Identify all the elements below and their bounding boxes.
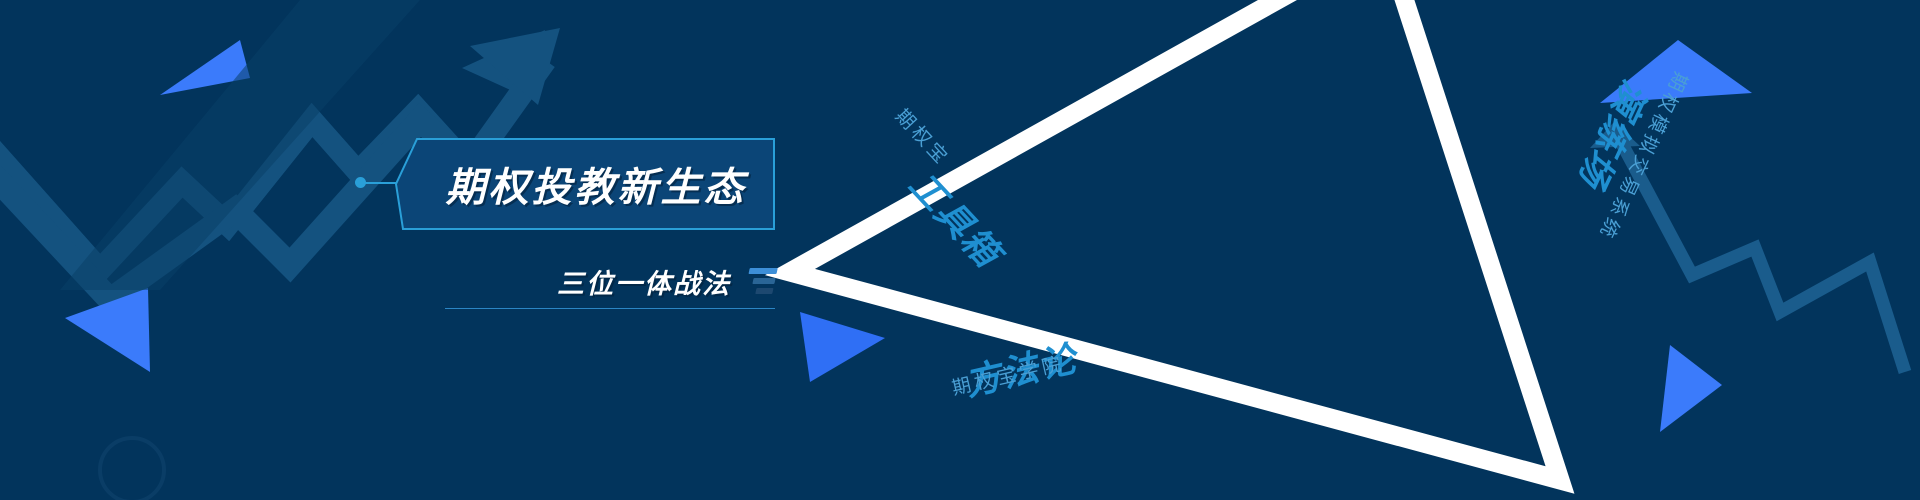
page-title: 期权投教新生态 bbox=[395, 138, 775, 230]
subtitle-row: 三位一体战法 bbox=[445, 258, 775, 304]
subtitle-divider bbox=[445, 308, 775, 309]
subtitle-text: 三位一体战法 bbox=[557, 262, 731, 301]
three-bars-icon bbox=[744, 268, 778, 294]
promo-banner: 期权投教新生态 三位一体战法 期权宝 工具箱 期权模拟交易系统 演练场 方法论 … bbox=[0, 0, 1920, 500]
badge-connector-line bbox=[364, 182, 397, 184]
title-badge: 期权投教新生态 bbox=[395, 138, 775, 230]
